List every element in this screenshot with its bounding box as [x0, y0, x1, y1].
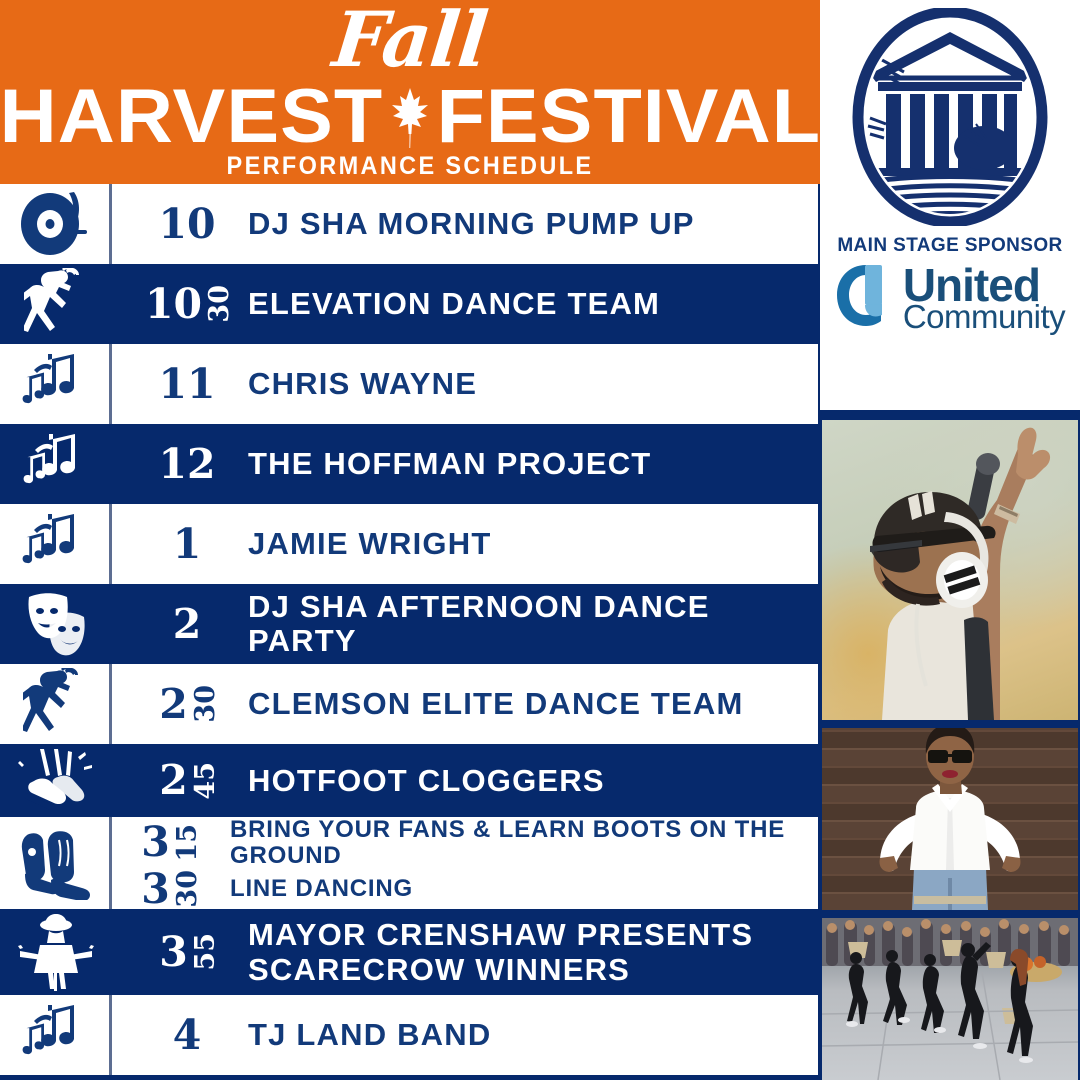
row-minute: 55 — [192, 933, 219, 971]
row-hour: 2 — [173, 604, 202, 645]
row-hour: 3 — [141, 869, 170, 910]
united-community-mark-icon — [835, 263, 897, 334]
row-time: 10 30 — [130, 284, 248, 325]
table-row[interactable]: 1 JAMIE WRIGHT — [0, 504, 818, 584]
row-title: MAYOR CRENSHAW PRESENTS SCARECROW WINNER… — [248, 917, 820, 987]
clogging-shoes-icon — [0, 744, 112, 817]
row-time: 3 15 — [112, 822, 230, 863]
fall-script-text: Fall — [0, 0, 820, 82]
music-notes-icon — [0, 504, 112, 584]
row-time: 1 — [130, 524, 248, 565]
row-minute: 30 — [192, 685, 219, 723]
theater-masks-icon — [0, 584, 112, 664]
table-row[interactable]: 11 CHRIS WAYNE — [0, 344, 818, 424]
row-time: 4 — [130, 1015, 248, 1056]
row-minute: 45 — [192, 762, 219, 800]
row-title: DJ SHA AFTERNOON DANCE PARTY — [248, 590, 820, 658]
sponsor-panel: MAIN STAGE SPONSOR United Community — [820, 0, 1080, 410]
row-time: 3 30 — [112, 869, 230, 910]
row-title: LINE DANCING — [230, 876, 818, 902]
festival-title: HARVEST FESTIVAL — [0, 78, 820, 156]
table-row[interactable]: 10 DJ SHA MORNING PUMP UP — [0, 184, 818, 264]
row-minute: 30 — [206, 285, 233, 323]
table-row[interactable]: 4 TJ LAND BAND — [0, 995, 818, 1075]
sponsor-label: MAIN STAGE SPONSOR — [837, 235, 1062, 257]
table-row[interactable]: 12 THE HOFFMAN PROJECT — [0, 424, 820, 504]
row-title: BRING YOUR FANS & LEARN BOOTS ON THE GRO… — [230, 817, 818, 869]
row-hour: 1 — [173, 524, 202, 565]
table-row[interactable]: 3 15 BRING YOUR FANS & LEARN BOOTS ON TH… — [0, 817, 818, 909]
row-hour: 10 — [158, 204, 215, 245]
maple-leaf-icon — [390, 86, 430, 148]
harvest-festival-poster: Fall HARVEST FESTIVAL PERFORMANCE SCHEDU… — [0, 0, 1080, 1080]
row-hour: 4 — [173, 1015, 202, 1056]
sponsor-logo: United Community — [835, 263, 1065, 334]
row-title: CHRIS WAYNE — [248, 367, 818, 401]
row-hour: 10 — [145, 284, 202, 325]
music-notes-icon — [0, 424, 112, 504]
row-title: CLEMSON ELITE DANCE TEAM — [248, 687, 818, 721]
cowboy-boots-icon — [0, 817, 112, 909]
table-row[interactable]: 10 30 ELEVATION DANCE TEAM — [0, 264, 820, 344]
scarecrow-icon — [0, 909, 112, 995]
title-harvest: HARVEST — [0, 78, 383, 156]
row-minute: 15 — [174, 824, 201, 862]
row-minute: 30 — [174, 870, 201, 908]
row-hour: 12 — [158, 444, 215, 485]
row-title: JAMIE WRIGHT — [248, 527, 818, 561]
row-hour: 2 — [159, 684, 188, 725]
city-seal-courthouse-icon — [852, 8, 1048, 231]
row-time: 12 — [130, 444, 248, 485]
row-title: HOTFOOT CLOGGERS — [248, 764, 820, 798]
table-row[interactable]: 2 30 CLEMSON ELITE DANCE TEAM — [0, 664, 818, 744]
photo-host-portrait — [822, 728, 1078, 910]
row-title: TJ LAND BAND — [248, 1018, 818, 1052]
table-row[interactable]: 3 55 MAYOR CRENSHAW PRESENTS SCARECROW W… — [0, 909, 820, 995]
header-banner: Fall HARVEST FESTIVAL PERFORMANCE SCHEDU… — [0, 0, 820, 184]
sponsor-name-line2: Community — [903, 302, 1065, 332]
sub-entry[interactable]: 3 30 LINE DANCING — [112, 869, 818, 910]
music-notes-icon — [0, 344, 112, 424]
row-time: 3 55 — [130, 932, 248, 973]
row-hour: 3 — [141, 822, 170, 863]
row-hour: 3 — [159, 932, 188, 973]
sub-entry[interactable]: 3 15 BRING YOUR FANS & LEARN BOOTS ON TH… — [112, 817, 818, 869]
row-hour: 11 — [158, 364, 215, 405]
schedule-table: 10 DJ SHA MORNING PUMP UP 10 — [0, 184, 820, 1075]
row-title: ELEVATION DANCE TEAM — [248, 287, 820, 321]
photo-dj-performer — [822, 420, 1078, 720]
row-time: 2 — [130, 604, 248, 645]
dj-turntable-icon — [0, 184, 112, 264]
table-row[interactable]: 2 DJ SHA AFTERNOON DANCE PARTY — [0, 584, 820, 664]
row-time: 2 30 — [130, 684, 248, 725]
header-subtitle: PERFORMANCE SCHEDULE — [25, 152, 796, 180]
schedule-column: Fall HARVEST FESTIVAL PERFORMANCE SCHEDU… — [0, 0, 820, 1080]
row-time: 2 45 — [130, 760, 248, 801]
row-title: THE HOFFMAN PROJECT — [248, 447, 820, 481]
photo-dance-team — [822, 918, 1078, 1080]
row-time: 10 — [130, 204, 248, 245]
music-notes-icon — [0, 995, 112, 1075]
row-title: DJ SHA MORNING PUMP UP — [248, 207, 818, 241]
dancer-icon — [0, 264, 112, 344]
table-row[interactable]: 2 45 HOTFOOT CLOGGERS — [0, 744, 820, 817]
title-festival: FESTIVAL — [436, 78, 820, 156]
dancer-icon — [0, 664, 112, 744]
row-time: 11 — [130, 364, 248, 405]
sidebar-column: MAIN STAGE SPONSOR United Community — [820, 0, 1080, 1080]
row-hour: 2 — [159, 760, 188, 801]
